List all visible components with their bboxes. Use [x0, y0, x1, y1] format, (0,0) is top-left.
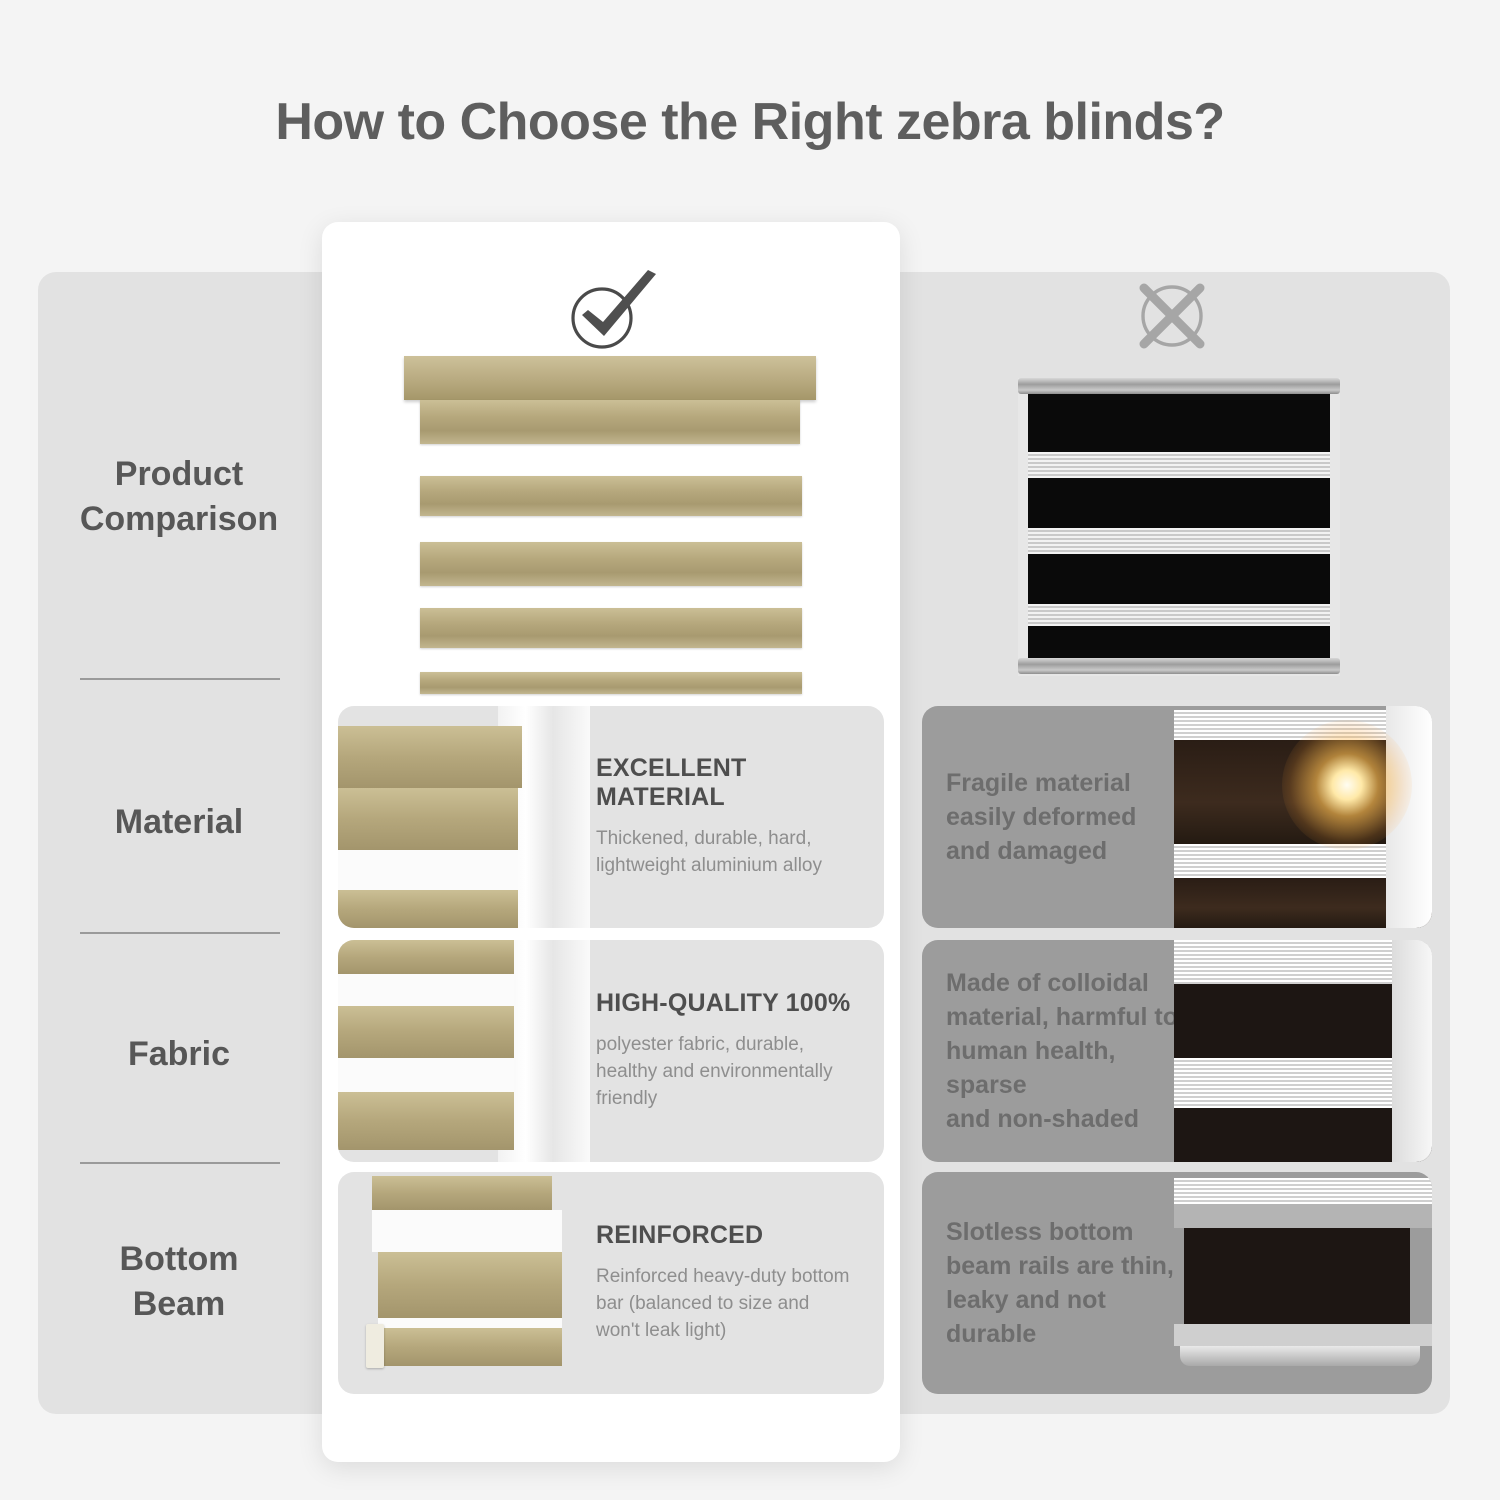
feature-body: polyester fabric, durable, healthy and e… — [596, 1032, 872, 1113]
row-label-material: Material — [38, 800, 320, 845]
blind-band-dark — [1028, 478, 1330, 528]
bad-text-line4: and non-shaded — [946, 1102, 1196, 1136]
photo-light-leak-sunburst — [1174, 706, 1432, 928]
blind-band-white — [378, 1318, 562, 1328]
bad-feature-card-fabric: Made of colloidal material, harmful to h… — [922, 940, 1432, 1162]
blind-band-sheer — [1028, 604, 1330, 626]
blind-band-white — [338, 1058, 514, 1092]
feature-body-line1: Reinforced heavy-duty bottom — [596, 1264, 872, 1291]
hero-image-bad-blind — [1018, 378, 1340, 676]
window-frame — [1392, 940, 1432, 1162]
feature-body-line2: healthy and environmentally — [596, 1059, 872, 1086]
bad-text-line3: and damaged — [946, 834, 1136, 868]
row-label-line1: Material — [38, 800, 320, 845]
blind-band-tan — [338, 1092, 514, 1150]
feature-body: Reinforced heavy-duty bottom bar (balanc… — [596, 1264, 872, 1345]
blind-band-dark — [1028, 554, 1330, 604]
row-label-product-comparison: Product Comparison — [38, 452, 320, 542]
feature-heading: HIGH-QUALITY 100% — [596, 989, 872, 1018]
photo-tan-blind-fabric — [338, 940, 590, 1162]
metal-bottom-rail — [1018, 658, 1340, 674]
blind-band-sheer — [1174, 1178, 1432, 1204]
sun-flare-icon — [1282, 720, 1412, 850]
feature-body-line3: won't leak light) — [596, 1318, 872, 1345]
good-feature-text: HIGH-QUALITY 100% polyester fabric, dura… — [596, 940, 872, 1162]
bad-feature-card-bottom-beam: Slotless bottom beam rails are thin, lea… — [922, 1172, 1432, 1394]
blind-slat — [420, 476, 802, 516]
check-circle-icon — [552, 268, 668, 352]
thin-bottom-rail — [1180, 1346, 1420, 1366]
blind-band-grey — [1174, 1324, 1432, 1346]
bad-text-line1: Slotless bottom — [946, 1215, 1196, 1249]
row-label-line1: Fabric — [38, 1032, 320, 1077]
bad-text-line2: beam rails are thin, — [946, 1249, 1196, 1283]
good-feature-text: REINFORCED Reinforced heavy-duty bottom … — [596, 1172, 872, 1394]
feature-heading: EXCELLENT MATERIAL — [596, 754, 872, 812]
photo-tan-blind-bottom-beam — [338, 1172, 590, 1394]
metal-headrail — [1018, 378, 1340, 394]
blind-band-tan — [338, 1006, 514, 1058]
row-label-bottom-beam: Bottom Beam — [38, 1237, 320, 1327]
good-feature-text: EXCELLENT MATERIAL Thickened, durable, h… — [596, 706, 872, 928]
page-title: How to Choose the Right zebra blinds? — [0, 92, 1500, 152]
blind-band-tan — [378, 1252, 562, 1318]
bad-text-line2: easily deformed — [946, 800, 1136, 834]
blind-band-sheer — [1028, 452, 1330, 478]
hero-image-good-blind — [404, 356, 816, 696]
blind-band-white — [338, 974, 514, 1006]
feature-body-line1: Thickened, durable, hard, — [596, 826, 872, 853]
row-label-line2: Beam — [38, 1282, 320, 1327]
bad-feature-text: Slotless bottom beam rails are thin, lea… — [946, 1172, 1196, 1394]
feature-body-line1: polyester fabric, durable, — [596, 1032, 872, 1059]
bad-feature-card-material: Fragile material easily deformed and dam… — [922, 706, 1432, 928]
row-divider-1 — [80, 678, 280, 680]
blind-band-tan — [372, 1176, 552, 1210]
bad-text-line3: leaky and not durable — [946, 1283, 1196, 1351]
good-feature-card-bottom-beam: REINFORCED Reinforced heavy-duty bottom … — [338, 1172, 884, 1394]
photo-sparse-fabric-window — [1174, 940, 1432, 1162]
bottom-beam — [420, 672, 802, 694]
feature-body-line2: bar (balanced to size and — [596, 1291, 872, 1318]
feature-body-line3: friendly — [596, 1086, 872, 1113]
good-feature-card-fabric: HIGH-QUALITY 100% polyester fabric, dura… — [338, 940, 884, 1162]
blind-band-dark — [1184, 1228, 1410, 1324]
photo-tan-blind-window-frame — [338, 706, 590, 928]
blind-band-tan — [338, 726, 522, 788]
bad-text-line3: human health, sparse — [946, 1034, 1196, 1102]
bad-text-line1: Fragile material — [946, 766, 1136, 800]
bottom-beam-endcap — [366, 1324, 384, 1368]
headrail — [404, 356, 816, 400]
row-label-line1: Product — [38, 452, 320, 497]
blind-band-dark — [1028, 394, 1330, 452]
feature-heading: REINFORCED — [596, 1221, 872, 1250]
row-label-column: Product Comparison Material Fabric Botto… — [38, 272, 320, 1414]
blind-band-grey — [1174, 1204, 1432, 1228]
blind-band-white — [338, 850, 518, 890]
bad-text-line1: Made of colloidal — [946, 966, 1196, 1000]
blind-band-tan — [338, 890, 518, 928]
cross-circle-icon — [1124, 278, 1220, 354]
blind-slat — [420, 400, 800, 444]
feature-body-line2: lightweight aluminium alloy — [596, 853, 872, 880]
blind-band-tan — [338, 940, 514, 974]
bad-feature-text: Made of colloidal material, harmful to h… — [946, 940, 1196, 1162]
row-label-line2: Comparison — [38, 497, 320, 542]
bottom-beam-bar — [378, 1328, 562, 1366]
feature-body: Thickened, durable, hard, lightweight al… — [596, 826, 872, 880]
row-divider-2 — [80, 932, 280, 934]
blind-slat — [420, 542, 802, 586]
blind-band-tan — [338, 788, 518, 850]
row-label-fabric: Fabric — [38, 1032, 320, 1077]
good-feature-card-material: EXCELLENT MATERIAL Thickened, durable, h… — [338, 706, 884, 928]
blind-slat — [420, 608, 802, 648]
row-divider-3 — [80, 1162, 280, 1164]
row-label-line1: Bottom — [38, 1237, 320, 1282]
photo-thin-bottom-rail — [1174, 1172, 1432, 1394]
blind-band-sheer — [1028, 528, 1330, 554]
bad-feature-text: Fragile material easily deformed and dam… — [946, 706, 1196, 928]
blind-band-white — [372, 1210, 562, 1252]
blind-band-dark — [1028, 626, 1330, 658]
bad-text-line2: material, harmful to — [946, 1000, 1196, 1034]
